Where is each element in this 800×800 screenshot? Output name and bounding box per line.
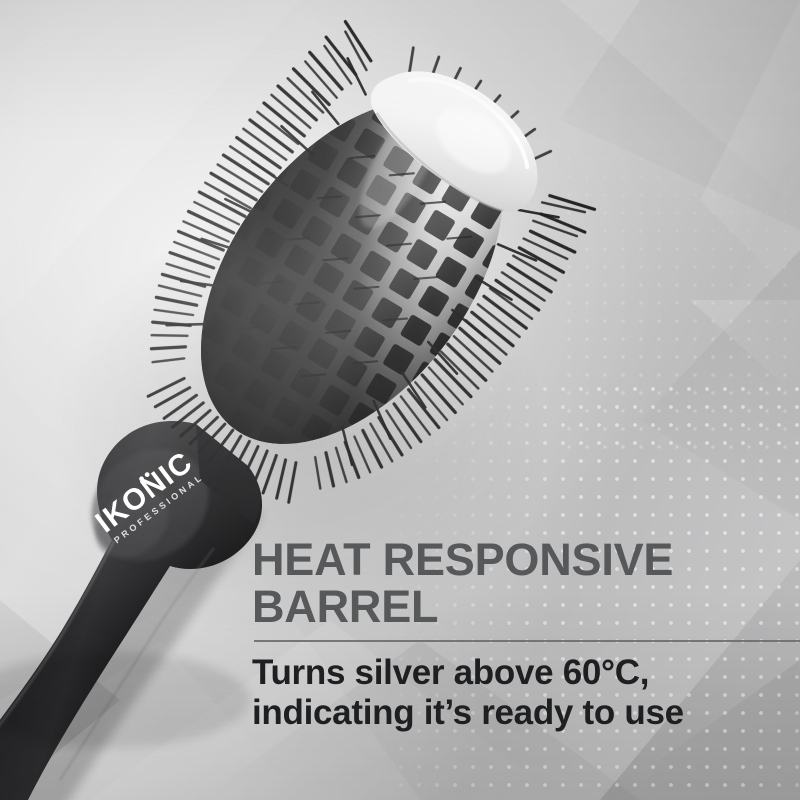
feature-copy-block: HEAT RESPONSIVE BARREL Turns silver abov…	[252, 536, 792, 733]
subtitle-line-1: Turns silver above 60°C,	[252, 653, 649, 692]
headline-line-1: HEAT RESPONSIVE	[252, 534, 673, 585]
feature-subtitle: Turns silver above 60°C, indicating it’s…	[252, 642, 792, 733]
headline-divider	[254, 640, 800, 642]
feature-headline: HEAT RESPONSIVE BARREL	[252, 536, 792, 630]
subtitle-line-2: indicating it’s ready to use	[252, 693, 792, 733]
headline-line-2: BARREL	[252, 581, 438, 632]
product-feature-banner: IKONIC PROFESSIONAL	[0, 0, 800, 800]
